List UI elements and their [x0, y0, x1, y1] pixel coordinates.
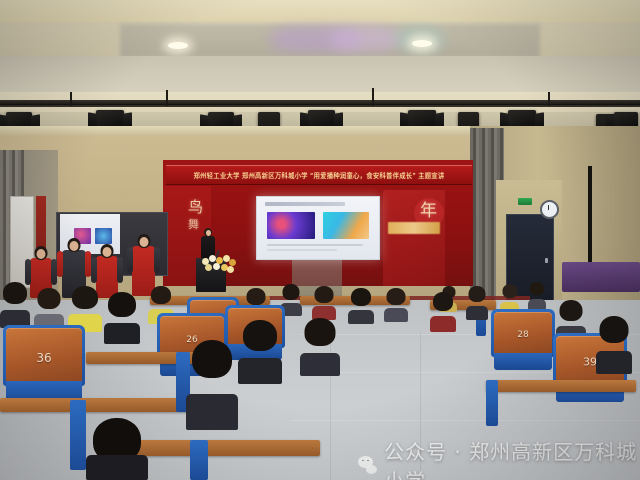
ceiling-band-front: [0, 0, 640, 22]
audience-member: [348, 288, 374, 324]
audience-member: [596, 316, 632, 374]
seat[interactable]: 28: [494, 312, 552, 370]
audience-member: [466, 286, 488, 320]
event-banner-text: 郑州轻工业大学 郑州高新区万科城小学 “用爱播种润童心，食安科普伴成长” 主题宣…: [194, 170, 445, 179]
audience-member: [186, 340, 238, 430]
slide-image-right: [323, 212, 369, 239]
flower-arrangement: [200, 254, 238, 274]
ceiling-downlight: [412, 40, 432, 47]
event-banner: 郑州轻工业大学 郑州高新区万科城小学 “用爱播种润童心，食安科普伴成长” 主题宣…: [166, 165, 472, 185]
desk-row: [486, 380, 636, 392]
wechat-icon: [358, 456, 377, 474]
wall-clock-icon: [540, 200, 559, 219]
truss-hanger: [372, 88, 374, 106]
watermark: 公众号 · 郑州高新区万科城小学: [358, 436, 640, 480]
seat-side-panel: [190, 440, 208, 480]
new-year-character: 鸟: [188, 196, 203, 217]
seat-number: 36: [36, 351, 51, 365]
audience-member: [86, 418, 148, 480]
floor-tile-line: [290, 420, 640, 421]
projection-screen: [256, 196, 380, 260]
audience-member: [384, 288, 408, 322]
side-table: [562, 262, 640, 292]
truss-hanger: [70, 92, 72, 106]
ceiling-light-tint-violet: [330, 26, 400, 52]
exit-sign-icon: [518, 198, 532, 205]
door-handle-icon[interactable]: [545, 258, 548, 263]
seat-side-panel: [486, 380, 498, 426]
desk-row: [0, 398, 200, 412]
poster-image: [95, 228, 112, 244]
audience-member: [300, 318, 340, 376]
desk-row: [120, 440, 320, 456]
auditorium-photo: 鸟 舞 年 郑州轻工业大学 郑州高新区万科城小学 “用爱播种润童心，食安科普伴成…: [0, 0, 640, 480]
seat-side-panel: [70, 400, 86, 470]
slide-title-bar: [265, 202, 345, 206]
audience-member: [104, 292, 140, 344]
audience-member: [528, 282, 546, 310]
backdrop-gold-text: [388, 222, 440, 234]
slide-text-line: [267, 249, 337, 251]
truss-hanger: [166, 90, 168, 106]
audience-member: [238, 320, 282, 384]
new-year-character: 年: [420, 196, 437, 221]
slide-text-line: [267, 244, 363, 246]
audience-member: [430, 292, 456, 332]
new-year-character: 舞: [188, 216, 199, 232]
ceiling-band-mid: [0, 56, 640, 92]
lighting-truss-cable: [0, 104, 640, 107]
seat-number: 39: [583, 356, 597, 369]
ceiling-light-tint-teal: [395, 26, 445, 52]
audience-member: [312, 286, 336, 320]
slide-image-left: [267, 212, 315, 239]
seat-number: 28: [517, 330, 528, 340]
seat[interactable]: 36: [6, 328, 82, 404]
truss-hanger: [548, 92, 550, 106]
watermark-text: 公众号 · 郑州高新区万科城小学: [384, 436, 640, 480]
right-pole: [588, 166, 592, 266]
audience-member: [0, 282, 30, 328]
ceiling-downlight: [168, 42, 188, 49]
